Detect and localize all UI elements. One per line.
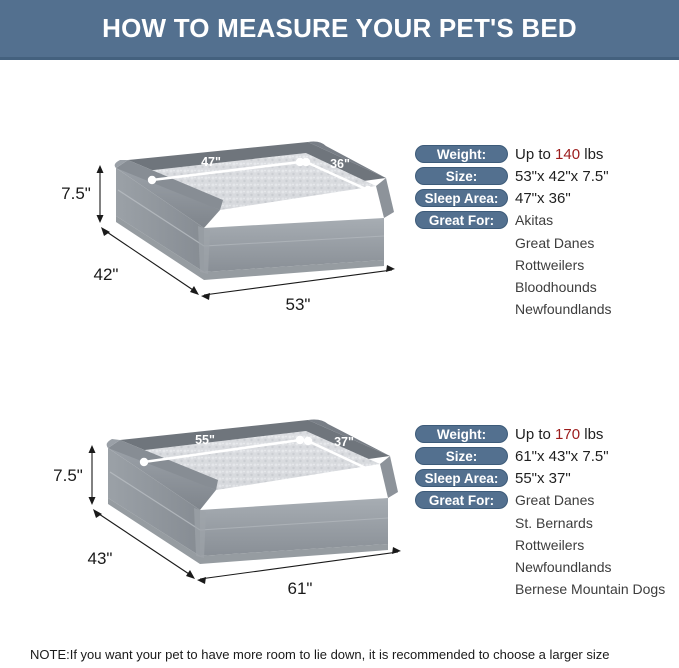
- spec-value-size: 61"x 43"x 7.5": [515, 447, 609, 466]
- spec-value-sleep-area: 55"x 37": [515, 469, 571, 488]
- dimension-height-jumbo: 7.5": [53, 466, 83, 485]
- spec-label-size: Size:: [415, 167, 508, 185]
- great-for-item: Akitas: [515, 211, 553, 230]
- spec-label-great-for: Great For:: [415, 211, 508, 229]
- spec-label-sleep-area: Sleep Area:: [415, 189, 508, 207]
- weight-unit: lbs: [584, 426, 603, 443]
- spec-row-great-for: Great For: Great Danes: [415, 491, 677, 513]
- great-for-list: St. Bernards Rottweilers Newfoundlands B…: [515, 512, 677, 600]
- spec-row-sleep-area: Sleep Area: 55"x 37": [415, 469, 677, 491]
- great-for-item: Newfoundlands: [515, 298, 677, 320]
- weight-prefix: Up to: [515, 426, 551, 443]
- product-block-jumbo: 55" 37" 7.5" 43" 61" Weight: Up: [0, 400, 679, 630]
- dimension-depth-jumbo: 43": [88, 549, 113, 568]
- great-for-item: Great Danes: [515, 491, 594, 510]
- spec-label-size: Size:: [415, 447, 508, 465]
- great-for-item: Rottweilers: [515, 534, 677, 556]
- spec-row-size: Size: 61"x 43"x 7.5": [415, 447, 677, 469]
- spec-row-size: Size: 53"x 42"x 7.5": [415, 167, 677, 189]
- dimension-width-large: 53": [286, 295, 311, 314]
- weight-value: 140: [555, 146, 580, 163]
- spec-value-sleep-area: 47"x 36": [515, 189, 571, 208]
- spec-panel-jumbo: Weight: Up to 170 lbs Size: 61"x 43"x 7.…: [415, 425, 677, 600]
- dimension-width-jumbo: 61": [288, 579, 313, 598]
- spec-label-weight: Weight:: [415, 425, 508, 443]
- spec-value-size: 53"x 42"x 7.5": [515, 167, 609, 186]
- dimension-depth-large: 42": [94, 265, 119, 284]
- dimension-sleep-length-large: 47": [201, 155, 221, 169]
- spec-value-weight: Up to 170 lbs: [515, 425, 603, 444]
- great-for-item: Newfoundlands: [515, 556, 677, 578]
- page-header: HOW TO MEASURE YOUR PET'S BED: [0, 0, 679, 60]
- great-for-item: Bernese Mountain Dogs: [515, 578, 677, 600]
- spec-label-weight: Weight:: [415, 145, 508, 163]
- weight-unit: lbs: [584, 146, 603, 163]
- spec-panel-large: Weight: Up to 140 lbs Size: 53"x 42"x 7.…: [415, 145, 677, 320]
- page-title: HOW TO MEASURE YOUR PET'S BED: [102, 13, 577, 44]
- spec-label-great-for: Great For:: [415, 491, 508, 509]
- weight-prefix: Up to: [515, 146, 551, 163]
- great-for-item: Great Danes: [515, 232, 677, 254]
- dimension-sleep-length-jumbo: 55": [195, 433, 215, 447]
- dimension-height-large: 7.5": [61, 184, 91, 203]
- spec-row-weight: Weight: Up to 140 lbs: [415, 145, 677, 167]
- dimension-sleep-width-large: 36": [330, 157, 350, 171]
- great-for-item: Rottweilers: [515, 254, 677, 276]
- spec-row-sleep-area: Sleep Area: 47"x 36": [415, 189, 677, 211]
- weight-value: 170: [555, 426, 580, 443]
- product-block-large: 47" 36" 7.5" 42" 53" Weight: Up: [0, 120, 679, 350]
- spec-row-great-for: Great For: Akitas: [415, 211, 677, 233]
- dimension-sleep-width-jumbo: 37": [334, 435, 354, 449]
- great-for-list: Great Danes Rottweilers Bloodhounds Newf…: [515, 232, 677, 320]
- spec-row-weight: Weight: Up to 170 lbs: [415, 425, 677, 447]
- bed-illustration-large: 47" 36" 7.5" 42" 53": [8, 120, 408, 335]
- spec-label-sleep-area: Sleep Area:: [415, 469, 508, 487]
- spec-value-weight: Up to 140 lbs: [515, 145, 603, 164]
- great-for-item: Bloodhounds: [515, 276, 677, 298]
- bed-illustration-jumbo: 55" 37" 7.5" 43" 61": [8, 400, 408, 615]
- footer-note: NOTE:If you want your pet to have more r…: [30, 647, 610, 662]
- great-for-item: St. Bernards: [515, 512, 677, 534]
